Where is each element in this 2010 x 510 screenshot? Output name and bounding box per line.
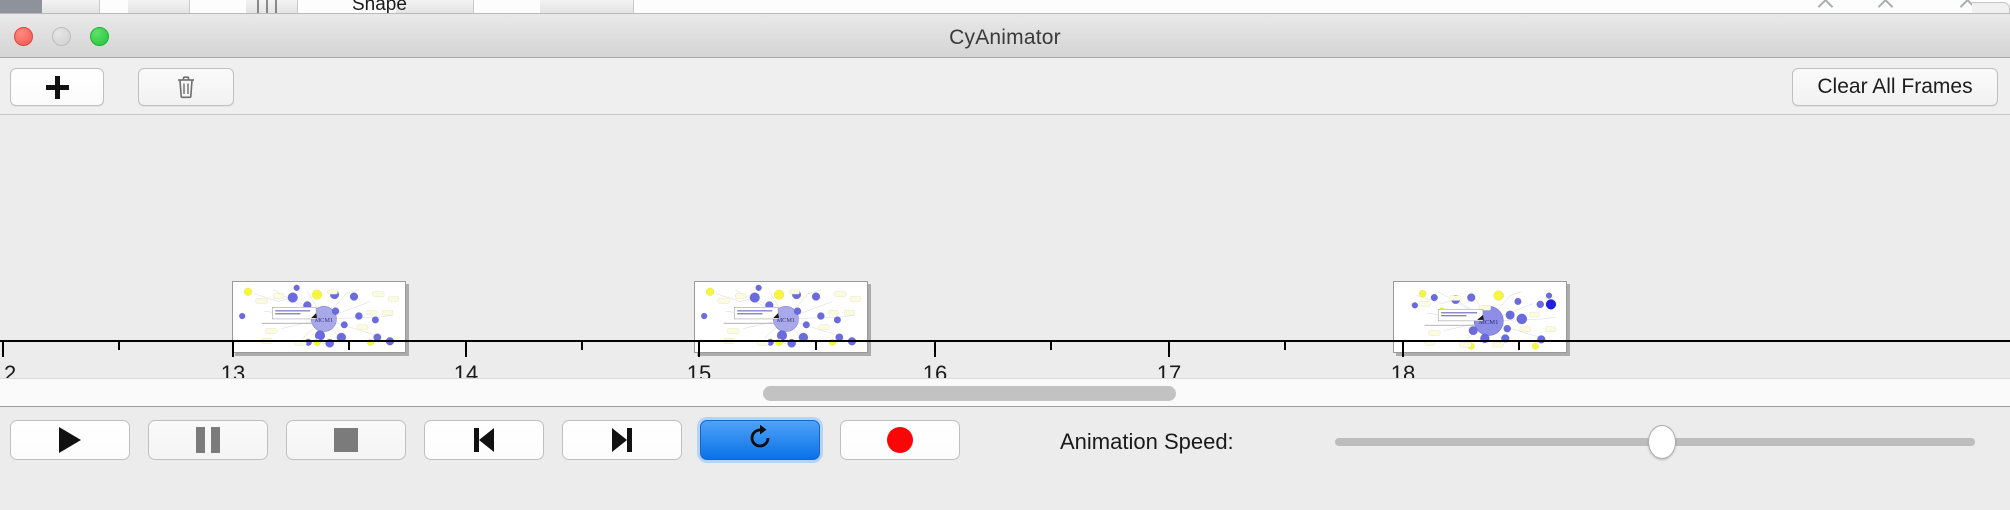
add-frame-button[interactable] [10,68,104,106]
backdrop-chip [396,0,474,14]
pause-icon [196,427,220,453]
loop-icon [746,424,774,457]
animation-speed-label: Animation Speed: [1060,429,1234,455]
timeline-panel[interactable]: MCM1 [0,115,2010,378]
play-button[interactable] [10,420,130,460]
skip-back-icon [474,428,494,452]
axis-tick-minor [1284,342,1286,350]
scrollbar-thumb[interactable] [763,386,1176,401]
axis-tick-minor [1518,342,1520,350]
axis-tick-label: 18 [1391,361,1415,378]
timeline-frame-thumbnail[interactable]: MCM1 [694,281,868,353]
backdrop-glyph: | | | [256,0,278,14]
title-bar: CyAnimator [0,14,2010,58]
highlight-node [1546,300,1556,310]
timeline-frame-thumbnail[interactable]: MCM1 [1393,281,1567,353]
record-button[interactable] [840,420,960,460]
backdrop-chip [540,0,634,14]
window-title: CyAnimator [0,26,2010,50]
axis-tick-minor [581,342,583,350]
backdrop-dark-chip [0,0,42,14]
loop-button[interactable] [700,420,820,460]
backdrop-window-corner [1972,2,2010,14]
record-icon [887,427,913,453]
svg-text:MCM1: MCM1 [315,317,334,324]
axis-tick-major [934,342,936,357]
frames-toolbar: Clear All Frames [0,58,2010,115]
cyanimator-window: CyAnimator Clear All Frames [0,14,2010,510]
axis-tick-major [2,342,4,357]
stop-icon [334,428,358,452]
delete-frame-button[interactable] [138,68,234,106]
backdrop-chip [128,0,190,14]
axis-tick-minor [1050,342,1052,350]
animation-speed-slider[interactable] [1335,438,1975,446]
timeline-scrollbar[interactable] [0,378,2010,407]
playback-toolbar: Animation Speed: [0,407,2010,509]
timeline-frame-thumbnail[interactable]: MCM1 [232,281,406,353]
axis-tick-label: 15 [687,361,711,378]
skip-forward-icon [612,428,632,452]
axis-tick-label: 16 [923,361,947,378]
axis-tick-label: 12 [0,361,16,378]
background-window-strip: | | | Shape [0,0,2010,14]
skip-to-end-button[interactable] [562,420,682,460]
stop-button[interactable] [286,420,406,460]
axis-tick-label: 13 [221,361,245,378]
axis-tick-major [465,342,467,357]
pause-button[interactable] [148,420,268,460]
timeline-axis-line [0,340,2010,342]
trash-icon [176,75,196,99]
axis-tick-minor [815,342,817,350]
axis-tick-minor [348,342,350,350]
clear-all-frames-label: Clear All Frames [1817,75,1972,99]
axis-tick-major [1402,342,1404,357]
plus-icon [46,76,69,99]
axis-tick-label: 14 [454,361,478,378]
axis-tick-label: 17 [1157,361,1181,378]
axis-tick-minor [118,342,120,350]
backdrop-arrow-icon [1878,0,1894,14]
clear-all-frames-button[interactable]: Clear All Frames [1792,68,1998,106]
svg-text:MCM1: MCM1 [777,317,796,324]
backdrop-shape-label: Shape [352,0,407,14]
slider-thumb[interactable] [1648,425,1676,459]
backdrop-chip [42,0,100,14]
backdrop-arrow-icon [1818,0,1834,14]
axis-tick-major [698,342,700,357]
axis-tick-major [232,342,234,357]
play-icon [59,427,81,453]
skip-to-start-button[interactable] [424,420,544,460]
axis-tick-major [1168,342,1170,357]
